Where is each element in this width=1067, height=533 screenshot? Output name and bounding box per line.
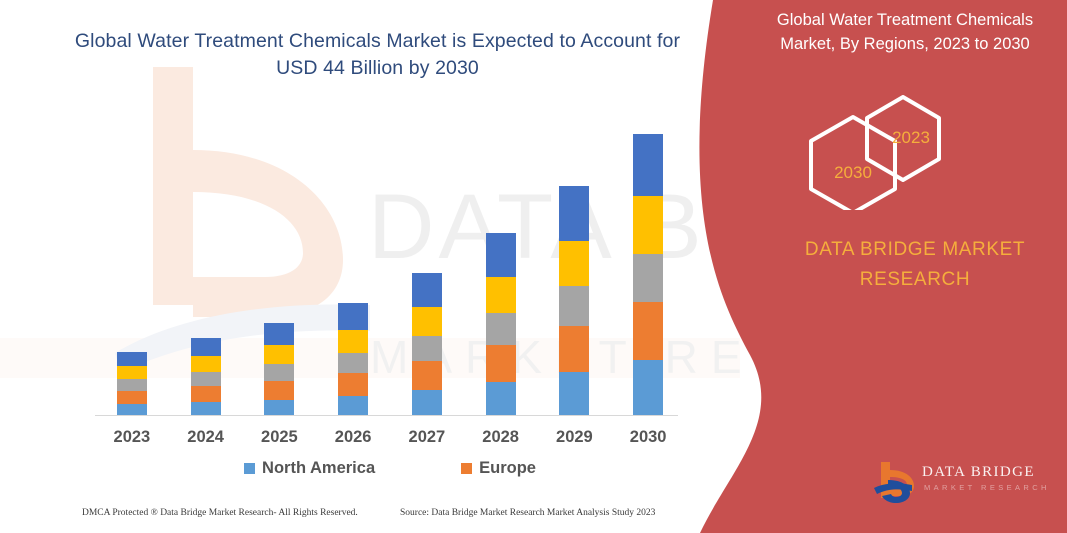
bar-segment-europe (191, 386, 221, 402)
infographic-canvas: DATA BRIDGE MARKET RESEARCH Global Water… (0, 0, 1067, 533)
bar-segment-north-america (191, 402, 221, 415)
bar-column (391, 118, 462, 415)
data-bridge-mark-icon (872, 458, 920, 506)
bar-segment-europe (412, 361, 442, 390)
bar-segment-north-america (486, 382, 516, 415)
bar-segment-north-america (117, 404, 147, 415)
bar-segment-series-5 (264, 323, 294, 345)
bar-segment-series-4 (338, 330, 368, 353)
footer-copyright: DMCA Protected ® Data Bridge Market Rese… (82, 508, 358, 518)
bar-column (170, 118, 241, 415)
bar-segment-europe (117, 391, 147, 404)
bar-segment-north-america (559, 372, 589, 415)
bar-segment-series-4 (412, 307, 442, 336)
bar-column (96, 118, 167, 415)
stacked-bar[interactable] (117, 352, 147, 415)
x-axis-label: 2023 (96, 428, 167, 450)
legend-swatch-icon (244, 463, 255, 474)
bar-segment-series-5 (117, 352, 147, 366)
bar-segment-series-3 (117, 379, 147, 391)
x-axis-labels: 20232024202520262027202820292030 (95, 428, 685, 450)
panel-brand: DATA BRIDGE MARKET RESEARCH (790, 235, 1040, 295)
stacked-bar[interactable] (338, 303, 368, 415)
bar-segment-series-3 (633, 254, 663, 302)
bar-segment-europe (486, 345, 516, 382)
hexagon-label-2023: 2023 (870, 128, 952, 148)
bar-segment-north-america (633, 360, 663, 415)
bar-segment-north-america (338, 396, 368, 415)
bar-segment-series-5 (633, 134, 663, 196)
bar-column (244, 118, 315, 415)
bar-segment-north-america (264, 400, 294, 415)
hexagon-group: 2030 2023 (790, 95, 1040, 210)
bar-segment-series-4 (191, 356, 221, 372)
legend-swatch-icon (461, 463, 472, 474)
hexagon-shapes-icon (790, 95, 1040, 210)
bar-column (465, 118, 536, 415)
stacked-bar[interactable] (412, 273, 442, 415)
chart-legend: North AmericaEurope (95, 456, 685, 480)
bar-segment-series-4 (559, 241, 589, 286)
footer-source: Source: Data Bridge Market Research Mark… (400, 508, 655, 518)
stacked-bar[interactable] (633, 134, 663, 415)
stacked-bar[interactable] (264, 323, 294, 415)
bar-column (318, 118, 389, 415)
chart-title: Global Water Treatment Chemicals Market … (70, 28, 685, 82)
bar-segment-series-3 (559, 286, 589, 326)
legend-label: North America (262, 459, 375, 478)
bar-segment-series-3 (338, 353, 368, 373)
logo-text-secondary: MARKET RESEARCH (924, 483, 1050, 492)
bar-segment-series-3 (412, 336, 442, 361)
footer: DMCA Protected ® Data Bridge Market Rese… (0, 508, 700, 528)
legend-item[interactable]: Europe (461, 459, 536, 478)
x-axis-label: 2025 (244, 428, 315, 450)
x-axis-label: 2026 (318, 428, 389, 450)
data-bridge-logo: DATA BRIDGE MARKET RESEARCH (872, 458, 1062, 508)
legend-label: Europe (479, 459, 536, 478)
bar-segment-series-4 (633, 196, 663, 254)
stacked-bar[interactable] (191, 338, 221, 415)
bar-segment-series-3 (486, 313, 516, 345)
bar-segment-series-5 (412, 273, 442, 307)
x-axis-label: 2027 (391, 428, 462, 450)
bar-segment-europe (264, 381, 294, 400)
bar-segment-north-america (412, 390, 442, 415)
x-axis-line (95, 415, 678, 416)
stacked-bar[interactable] (486, 233, 516, 415)
bar-segment-series-4 (486, 277, 516, 313)
bar-segment-series-5 (338, 303, 368, 330)
bar-segment-series-5 (559, 186, 589, 241)
x-axis-label: 2028 (465, 428, 536, 450)
bar-segment-series-4 (117, 366, 147, 379)
bar-segment-series-3 (191, 372, 221, 386)
bar-segment-europe (559, 326, 589, 372)
logo-text-primary: DATA BRIDGE (922, 464, 1035, 481)
stacked-bar[interactable] (559, 186, 589, 415)
bar-segment-series-4 (264, 345, 294, 364)
bar-segment-europe (338, 373, 368, 396)
panel-brand-line-1: DATA BRIDGE MARKET (790, 235, 1040, 265)
bar-segment-series-5 (191, 338, 221, 356)
bar-column (539, 118, 610, 415)
x-axis-label: 2029 (539, 428, 610, 450)
legend-item[interactable]: North America (244, 459, 375, 478)
bar-segment-europe (633, 302, 663, 360)
stacked-bar-chart (95, 118, 685, 415)
bar-segment-series-5 (486, 233, 516, 277)
x-axis-label: 2024 (170, 428, 241, 450)
bar-segment-series-3 (264, 364, 294, 381)
panel-title: Global Water Treatment Chemicals Market,… (755, 8, 1055, 56)
panel-brand-line-2: RESEARCH (790, 265, 1040, 295)
hexagon-label-2030: 2030 (812, 163, 894, 183)
